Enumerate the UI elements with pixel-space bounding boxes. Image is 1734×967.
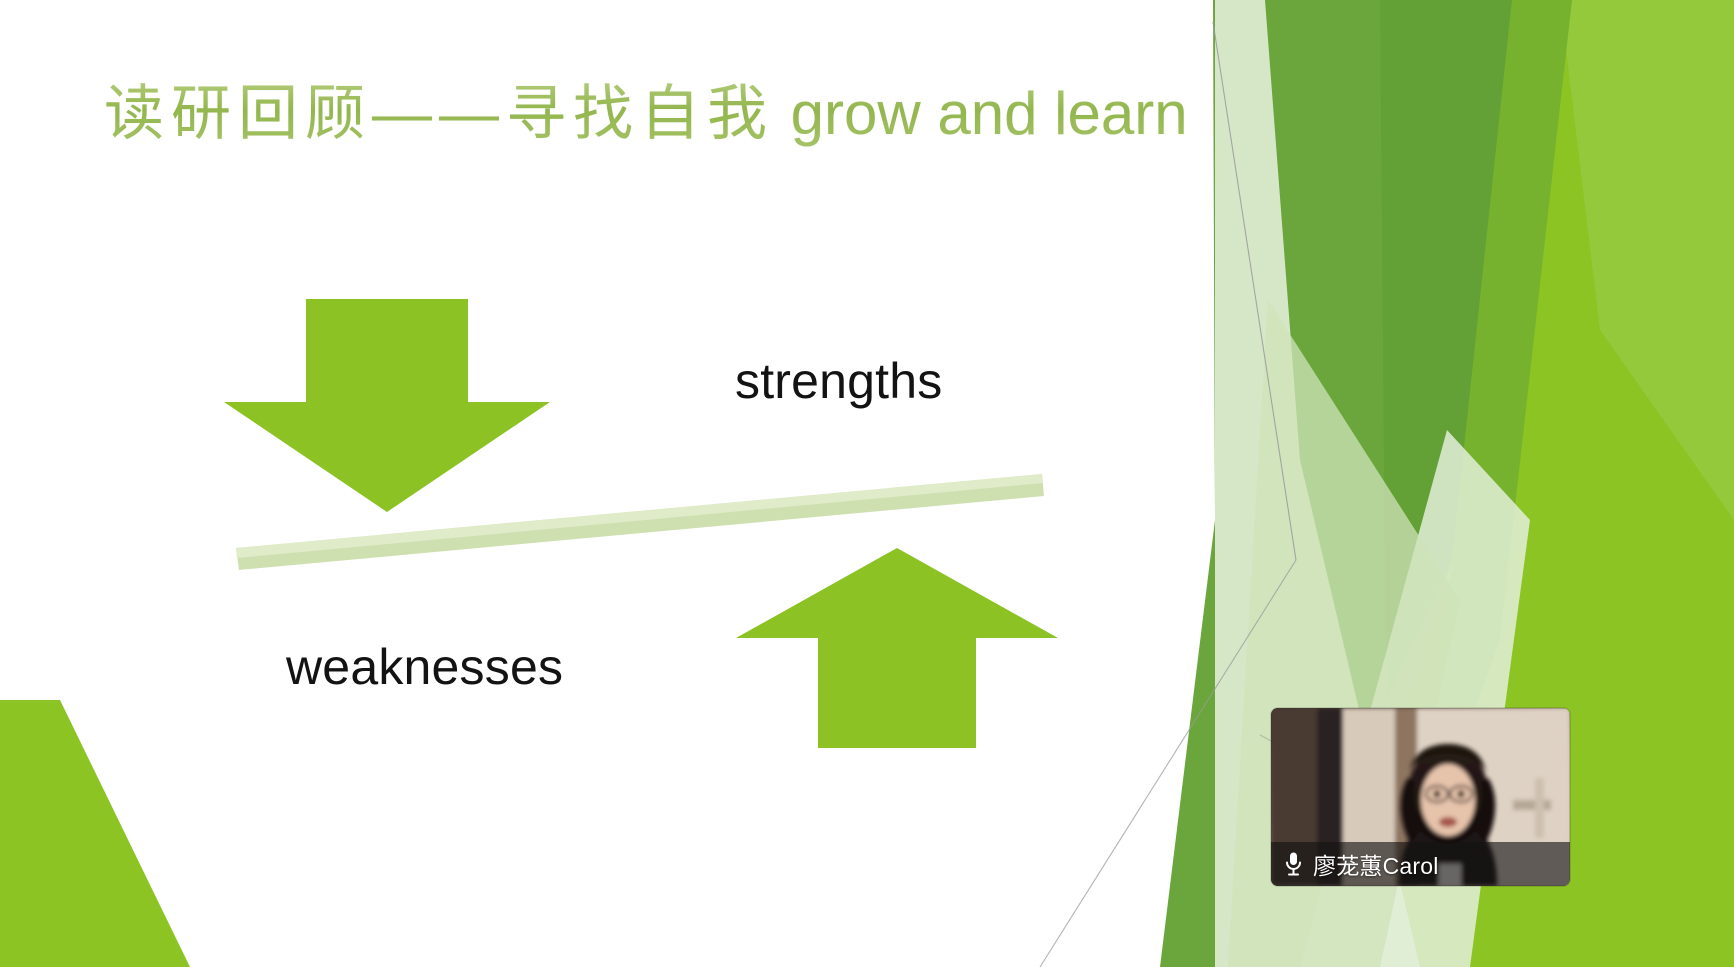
label-strengths: strengths [735, 352, 942, 410]
microphone-icon[interactable] [1283, 851, 1304, 877]
participant-name: 廖茏蕙Carol [1313, 847, 1439, 881]
label-weaknesses: weaknesses [286, 638, 563, 696]
slide-title-english: grow and learn [774, 80, 1188, 147]
slide-presentation-view: 读研回顾——寻找自我 grow and learn strengths weak… [0, 0, 1734, 967]
participant-video-tile[interactable]: 廖茏蕙Carol [1271, 708, 1570, 886]
slide-title-chinese: 读研回顾——寻找自我 [104, 80, 774, 147]
deco-bottom-left-wedge [0, 700, 190, 967]
participant-nameplate: 廖茏蕙Carol [1271, 842, 1570, 886]
arrow-up-icon [736, 548, 1058, 748]
slide-title: 读研回顾——寻找自我 grow and learn [104, 80, 1188, 147]
